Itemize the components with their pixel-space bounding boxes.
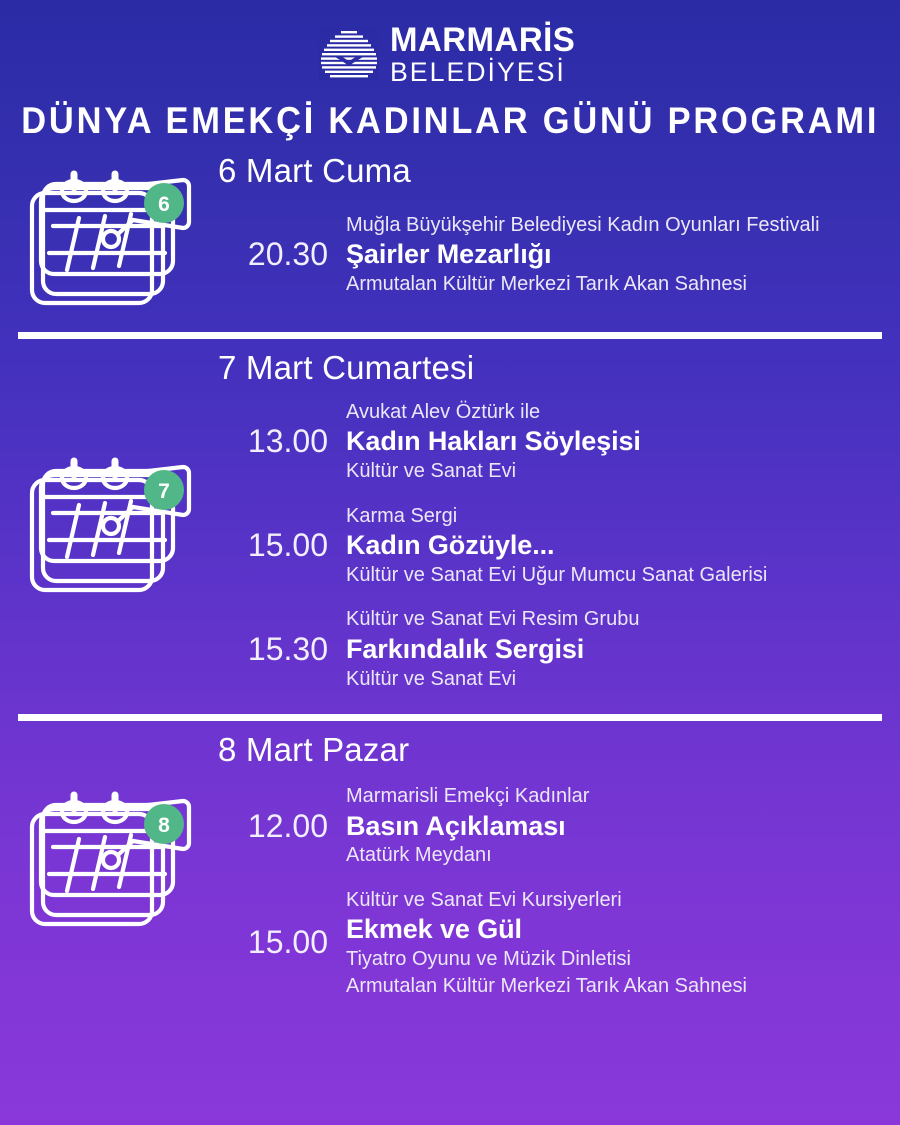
poster-header: MARMARİS BELEDİYESİ DÜNYA EMEKÇİ KADINLA… <box>0 0 900 142</box>
event-body: Marmarisli Emekçi Kadınlar Basın Açıklam… <box>346 783 886 869</box>
event-title: Şairler Mezarlığı <box>346 238 886 271</box>
event-item: 13.00 Avukat Alev Öztürk ile Kadın Hakla… <box>218 399 886 485</box>
event-body: Kültür ve Sanat Evi Resim Grubu Farkında… <box>346 606 886 692</box>
calendar-icon: 7 <box>27 445 192 605</box>
brand-name-line1: MARMARİS <box>390 23 575 57</box>
event-item: 15.00 Karma Sergi Kadın Gözüyle... Kültü… <box>218 503 886 589</box>
event-venue: Armutalan Kültür Merkezi Tarık Akan Sahn… <box>346 271 886 297</box>
event-body: Karma Sergi Kadın Gözüyle... Kültür ve S… <box>346 503 886 589</box>
event-title: Kadın Gözüyle... <box>346 529 886 562</box>
event-body: Muğla Büyükşehir Belediyesi Kadın Oyunla… <box>346 212 886 298</box>
day-block-2: 7 7 Mart Cumartesi 13.00 Avukat Alev Özt… <box>0 349 900 696</box>
event-item: 15.30 Kültür ve Sanat Evi Resim Grubu Fa… <box>218 606 886 692</box>
date-badge-number: 8 <box>158 814 170 837</box>
date-badge-number: 7 <box>158 480 170 503</box>
event-time: 15.30 <box>218 631 346 668</box>
event-item: 12.00 Marmarisli Emekçi Kadınlar Basın A… <box>218 783 886 869</box>
event-venue: Kültür ve Sanat Evi Uğur Mumcu Sanat Gal… <box>346 562 886 588</box>
event-venue: Tiyatro Oyunu ve Müzik Dinletisi <box>346 946 886 972</box>
event-time: 15.00 <box>218 527 346 564</box>
marmaris-sun-sea-emblem-icon <box>319 28 379 80</box>
day-content-3: 8 Mart Pazar 12.00 Marmarisli Emekçi Kad… <box>218 731 900 1003</box>
section-divider <box>18 332 882 339</box>
event-time: 13.00 <box>218 423 346 460</box>
event-item: 15.00 Kültür ve Sanat Evi Kursiyerleri E… <box>218 887 886 999</box>
day-heading-2: 7 Mart Cumartesi <box>218 349 886 387</box>
event-title: Basın Açıklaması <box>346 810 886 843</box>
event-presenter: Kültür ve Sanat Evi Resim Grubu <box>346 606 886 632</box>
event-presenter: Karma Sergi <box>346 503 886 529</box>
event-time: 12.00 <box>218 808 346 845</box>
event-presenter: Marmarisli Emekçi Kadınlar <box>346 783 886 809</box>
event-time: 15.00 <box>218 924 346 961</box>
event-venue-secondary: Armutalan Kültür Merkezi Tarık Akan Sahn… <box>346 973 886 999</box>
calendar-icon: 8 <box>27 779 192 939</box>
day-heading-1: 6 Mart Cuma <box>218 152 886 190</box>
day-block-3: 8 8 Mart Pazar 12.00 Marmarisli Emekçi K… <box>0 731 900 1003</box>
event-presenter: Avukat Alev Öztürk ile <box>346 399 886 425</box>
calendar-icon-wrapper-2: 7 <box>0 445 218 605</box>
day-content-1: 6 Mart Cuma 20.30 Muğla Büyükşehir Beled… <box>218 152 900 302</box>
day-content-2: 7 Mart Cumartesi 13.00 Avukat Alev Öztür… <box>218 349 900 696</box>
program-list: 6 6 Mart Cuma 20.30 Muğla Büyükşehir Bel… <box>0 152 900 1003</box>
calendar-icon-wrapper-1: 6 <box>0 158 218 318</box>
event-time: 20.30 <box>218 236 346 273</box>
calendar-icon-wrapper-3: 8 <box>0 779 218 939</box>
event-item: 20.30 Muğla Büyükşehir Belediyesi Kadın … <box>218 212 886 298</box>
event-venue: Kültür ve Sanat Evi <box>346 458 886 484</box>
brand-logo: MARMARİS BELEDİYESİ <box>319 26 581 82</box>
event-title: Kadın Hakları Söyleşisi <box>346 425 886 458</box>
event-body: Avukat Alev Öztürk ile Kadın Hakları Söy… <box>346 399 886 485</box>
event-body: Kültür ve Sanat Evi Kursiyerleri Ekmek v… <box>346 887 886 999</box>
brand-wordmark: MARMARİS BELEDİYESİ <box>390 23 581 86</box>
brand-name-line2: BELEDİYESİ <box>390 59 566 86</box>
event-venue: Atatürk Meydanı <box>346 842 886 868</box>
event-venue: Kültür ve Sanat Evi <box>346 666 886 692</box>
section-divider <box>18 714 882 721</box>
date-badge-number: 6 <box>158 193 170 216</box>
calendar-icon: 6 <box>27 158 192 318</box>
day-block-1: 6 6 Mart Cuma 20.30 Muğla Büyükşehir Bel… <box>0 152 900 318</box>
day-heading-3: 8 Mart Pazar <box>218 731 886 769</box>
page-title: DÜNYA EMEKÇİ KADINLAR GÜNÜ PROGRAMI <box>21 100 879 142</box>
event-title: Ekmek ve Gül <box>346 913 886 946</box>
event-title: Farkındalık Sergisi <box>346 633 886 666</box>
event-presenter: Kültür ve Sanat Evi Kursiyerleri <box>346 887 886 913</box>
event-presenter: Muğla Büyükşehir Belediyesi Kadın Oyunla… <box>346 212 886 238</box>
